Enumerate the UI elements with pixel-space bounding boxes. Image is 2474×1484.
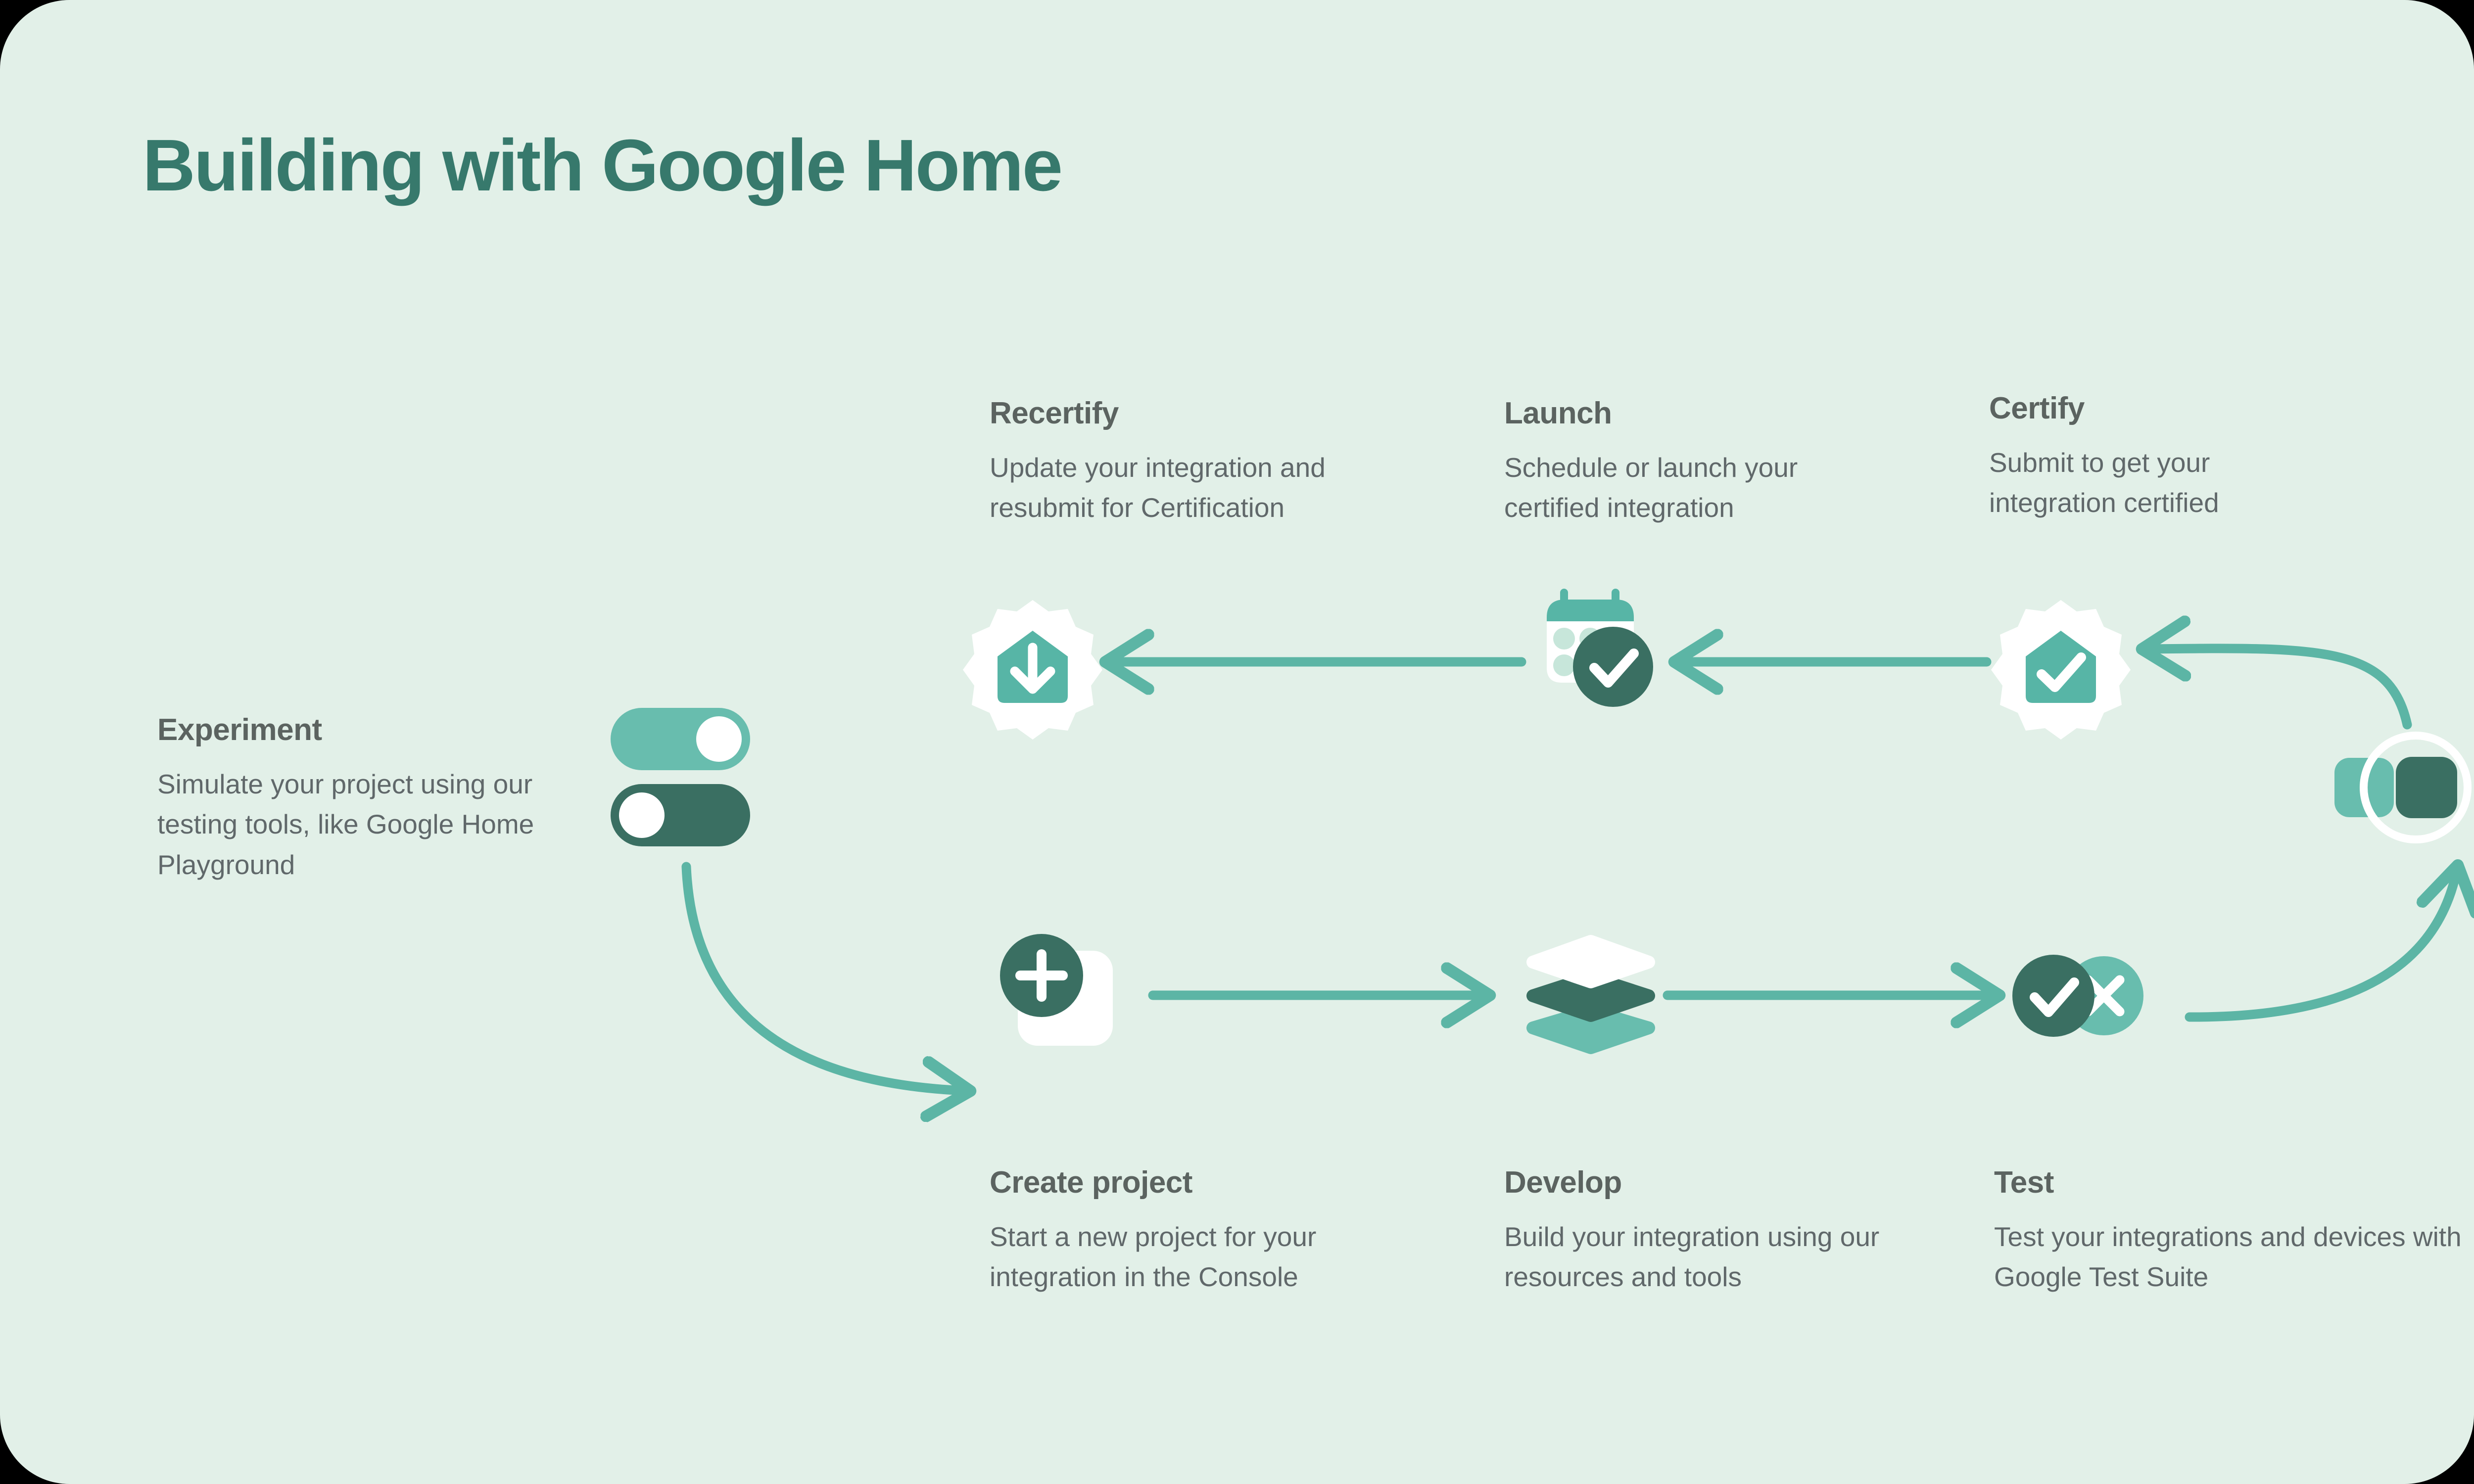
step-certify: Certify Submit to get your integration c… bbox=[1989, 391, 2335, 523]
diagram-card: Building with Google Home bbox=[0, 0, 2474, 1484]
step-experiment: Experiment Simulate your project using o… bbox=[157, 712, 593, 885]
step-launch-desc: Schedule or launch your certified integr… bbox=[1504, 448, 1890, 528]
step-recertify-title: Recertify bbox=[990, 396, 1415, 431]
step-develop: Develop Build your integration using our… bbox=[1504, 1165, 1920, 1298]
step-create-project-desc: Start a new project for your integration… bbox=[990, 1217, 1405, 1298]
step-launch-title: Launch bbox=[1504, 396, 1890, 431]
step-create-project-title: Create project bbox=[990, 1165, 1405, 1200]
check-cross-circles-icon bbox=[1999, 940, 2157, 1054]
plus-square-icon bbox=[987, 920, 1136, 1068]
step-certify-title: Certify bbox=[1989, 391, 2335, 426]
calendar-check-icon bbox=[1529, 589, 1677, 737]
step-launch: Launch Schedule or launch your certified… bbox=[1504, 396, 1890, 528]
step-develop-desc: Build your integration using our resourc… bbox=[1504, 1217, 1920, 1298]
badge-check-home-icon bbox=[1989, 596, 2133, 740]
step-test-desc: Test your integrations and devices with … bbox=[1994, 1217, 2474, 1298]
layers-stack-icon bbox=[1519, 923, 1663, 1066]
step-test-title: Test bbox=[1994, 1165, 2474, 1200]
step-recertify: Recertify Update your integration and re… bbox=[990, 396, 1415, 528]
step-experiment-desc: Simulate your project using our testing … bbox=[157, 764, 593, 885]
step-create-project: Create project Start a new project for y… bbox=[990, 1165, 1405, 1298]
badge-download-home-icon bbox=[961, 596, 1104, 740]
page-title: Building with Google Home bbox=[143, 124, 1061, 208]
devices-circle-icon bbox=[2326, 712, 2474, 861]
step-certify-desc: Submit to get your integration certified bbox=[1989, 443, 2335, 523]
step-experiment-title: Experiment bbox=[157, 712, 593, 747]
step-develop-title: Develop bbox=[1504, 1165, 1920, 1200]
toggle-switches-icon bbox=[609, 705, 757, 863]
step-test: Test Test your integrations and devices … bbox=[1994, 1165, 2474, 1298]
step-recertify-desc: Update your integration and resubmit for… bbox=[990, 448, 1415, 528]
